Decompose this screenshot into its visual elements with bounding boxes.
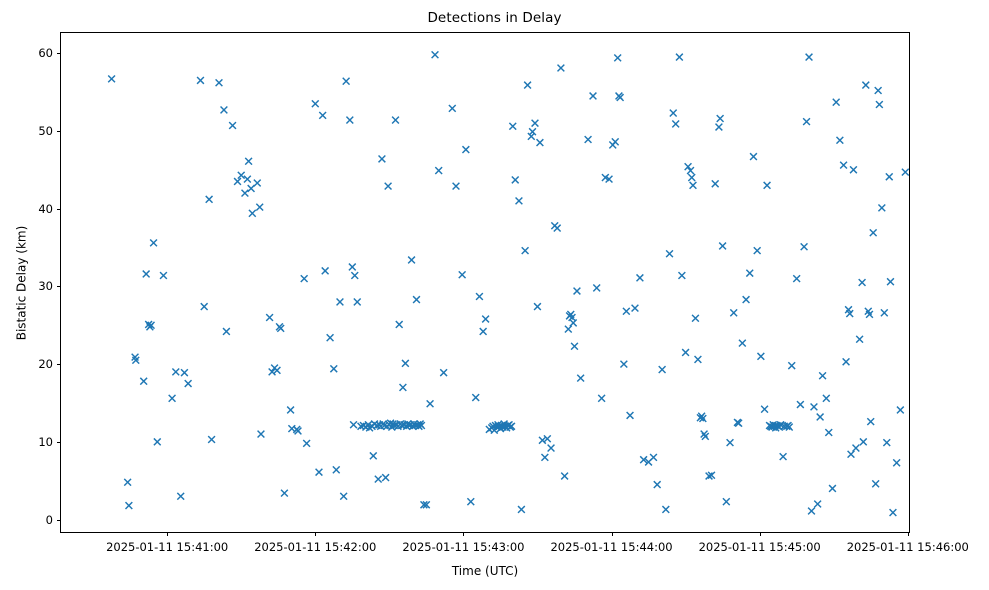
data-point xyxy=(662,506,669,513)
data-point xyxy=(534,303,541,310)
data-point xyxy=(343,78,350,85)
data-point xyxy=(867,418,874,425)
x-tick-label: 2025-01-11 15:46:00 xyxy=(847,540,969,554)
data-point xyxy=(859,279,866,286)
data-point xyxy=(565,326,572,333)
data-point xyxy=(585,136,592,143)
data-point xyxy=(223,328,230,335)
data-point xyxy=(181,369,188,376)
data-point xyxy=(883,439,890,446)
x-tick-mark xyxy=(612,532,613,536)
scatter-points-svg xyxy=(61,33,909,532)
data-point xyxy=(432,51,439,58)
plot-area: 01020304050602025-01-11 15:41:002025-01-… xyxy=(60,32,910,533)
data-point xyxy=(396,321,403,328)
data-point xyxy=(860,438,867,445)
data-point xyxy=(793,275,800,282)
data-point xyxy=(281,490,288,497)
data-point xyxy=(248,185,255,192)
data-point xyxy=(201,303,208,310)
matplotlib-figure: Detections in Delay Bistatic Delay (km) … xyxy=(0,0,989,590)
data-point xyxy=(427,400,434,407)
data-point xyxy=(312,100,319,107)
data-point xyxy=(238,172,245,179)
data-point xyxy=(459,271,466,278)
data-point xyxy=(392,117,399,124)
data-point xyxy=(385,183,392,190)
data-point xyxy=(840,162,847,169)
data-point xyxy=(185,380,192,387)
data-point xyxy=(620,361,627,368)
data-point xyxy=(754,247,761,254)
data-point xyxy=(249,210,256,217)
data-point xyxy=(288,425,295,432)
data-point xyxy=(843,358,850,365)
data-point xyxy=(682,349,689,356)
data-point xyxy=(375,476,382,483)
data-point xyxy=(322,267,329,274)
data-point xyxy=(379,156,386,163)
data-point xyxy=(108,75,115,82)
data-point xyxy=(678,272,685,279)
data-point xyxy=(574,288,581,295)
data-point xyxy=(197,77,204,84)
data-point xyxy=(716,124,723,131)
data-point xyxy=(509,123,516,130)
data-point xyxy=(206,196,213,203)
data-point xyxy=(719,243,726,250)
data-point xyxy=(750,153,757,160)
y-tick-label: 20 xyxy=(38,357,53,371)
data-point xyxy=(532,120,539,127)
data-point xyxy=(548,445,555,452)
data-point xyxy=(695,356,702,363)
data-point xyxy=(370,452,377,459)
data-point xyxy=(654,481,661,488)
data-point xyxy=(887,278,894,285)
data-point xyxy=(870,229,877,236)
data-point xyxy=(482,316,489,323)
data-point xyxy=(472,394,479,401)
data-point xyxy=(659,366,666,373)
data-point xyxy=(612,138,619,145)
x-tick-mark xyxy=(167,532,168,536)
data-point xyxy=(761,406,768,413)
data-point xyxy=(522,247,529,254)
data-point xyxy=(593,285,600,292)
data-point xyxy=(351,272,358,279)
data-point xyxy=(650,454,657,461)
data-point xyxy=(528,133,535,140)
data-point xyxy=(823,395,830,402)
data-point xyxy=(172,368,179,375)
data-point xyxy=(287,407,294,414)
data-point xyxy=(524,82,531,89)
data-point xyxy=(571,343,578,350)
data-point xyxy=(440,369,447,376)
data-point xyxy=(254,180,261,187)
x-tick-label: 2025-01-11 15:41:00 xyxy=(106,540,228,554)
data-point xyxy=(234,178,241,185)
data-point xyxy=(303,440,310,447)
data-point xyxy=(814,501,821,508)
y-tick-label: 0 xyxy=(46,513,53,527)
data-point xyxy=(598,395,605,402)
data-point xyxy=(764,182,771,189)
data-point xyxy=(340,493,347,500)
data-point xyxy=(848,451,855,458)
data-point xyxy=(400,384,407,391)
data-point xyxy=(216,79,223,86)
data-point xyxy=(902,169,909,176)
data-point xyxy=(788,362,795,369)
data-point xyxy=(803,118,810,125)
x-tick-label: 2025-01-11 15:43:00 xyxy=(402,540,524,554)
data-point xyxy=(169,395,176,402)
page-title: Detections in Delay xyxy=(0,10,989,26)
data-point xyxy=(856,336,863,343)
data-point xyxy=(692,315,699,322)
data-point xyxy=(862,82,869,89)
y-tick-label: 60 xyxy=(38,46,53,60)
data-point xyxy=(518,506,525,513)
data-point xyxy=(817,414,824,421)
data-point xyxy=(872,480,879,487)
data-point xyxy=(350,421,357,428)
data-point xyxy=(480,328,487,335)
data-point xyxy=(875,87,882,94)
data-point xyxy=(266,314,273,321)
data-point xyxy=(690,182,697,189)
data-point xyxy=(666,250,673,257)
y-tick-label: 40 xyxy=(38,202,53,216)
x-tick-mark xyxy=(760,532,761,536)
data-point xyxy=(623,308,630,315)
data-point xyxy=(780,453,787,460)
data-point xyxy=(354,299,361,306)
data-point xyxy=(316,469,323,476)
data-point xyxy=(850,166,857,173)
data-point xyxy=(258,431,265,438)
data-point xyxy=(881,309,888,316)
data-point xyxy=(811,403,818,410)
data-point xyxy=(541,454,548,461)
data-point xyxy=(890,509,897,516)
data-point xyxy=(453,183,460,190)
data-point xyxy=(743,296,750,303)
y-axis-label-text: Bistatic Delay (km) xyxy=(14,225,28,340)
data-point xyxy=(333,466,340,473)
data-point xyxy=(577,375,584,382)
x-tick-mark xyxy=(315,532,316,536)
data-point xyxy=(467,498,474,505)
data-point xyxy=(245,158,252,165)
data-point xyxy=(702,433,709,440)
data-point xyxy=(717,115,724,122)
data-point xyxy=(319,112,326,119)
data-point xyxy=(349,264,356,271)
data-point xyxy=(330,365,337,372)
data-point xyxy=(614,54,621,61)
data-point xyxy=(449,105,456,112)
data-point xyxy=(529,128,536,135)
data-point xyxy=(712,180,719,187)
data-point xyxy=(829,485,836,492)
data-point xyxy=(723,498,730,505)
y-tick-label: 10 xyxy=(38,435,53,449)
y-tick-label: 50 xyxy=(38,124,53,138)
data-point xyxy=(208,436,215,443)
data-point xyxy=(256,204,263,211)
data-point xyxy=(819,372,826,379)
data-point xyxy=(670,110,677,117)
data-point xyxy=(413,296,420,303)
x-tick-label: 2025-01-11 15:45:00 xyxy=(699,540,821,554)
data-point xyxy=(435,167,442,174)
data-point xyxy=(676,54,683,61)
data-point xyxy=(244,176,251,183)
data-point xyxy=(688,174,695,181)
data-point xyxy=(897,407,904,414)
data-point xyxy=(886,173,893,180)
x-tick-label: 2025-01-11 15:42:00 xyxy=(254,540,376,554)
data-point xyxy=(537,139,544,146)
scatter-series xyxy=(61,33,909,532)
data-point xyxy=(808,508,815,515)
data-point xyxy=(327,334,334,341)
data-point xyxy=(229,122,236,129)
data-point xyxy=(730,309,737,316)
data-point xyxy=(177,493,184,500)
data-point xyxy=(672,121,679,128)
x-tick-mark xyxy=(908,532,909,536)
data-point xyxy=(757,353,764,360)
data-point xyxy=(124,479,131,486)
data-point xyxy=(346,117,353,124)
data-point xyxy=(825,429,832,436)
data-point xyxy=(570,320,577,327)
data-point xyxy=(301,275,308,282)
data-point xyxy=(382,474,389,481)
data-point xyxy=(408,257,415,264)
data-point xyxy=(554,225,561,232)
x-tick-mark xyxy=(463,532,464,536)
data-point xyxy=(833,99,840,106)
data-point xyxy=(627,412,634,419)
data-point xyxy=(476,293,483,300)
data-point xyxy=(561,473,568,480)
data-point xyxy=(701,431,708,438)
data-point xyxy=(402,360,409,367)
data-point xyxy=(590,93,597,100)
data-point xyxy=(637,274,644,281)
data-point xyxy=(125,502,132,509)
data-point xyxy=(632,305,639,312)
y-axis-label: Bistatic Delay (km) xyxy=(12,32,30,533)
data-point xyxy=(516,197,523,204)
data-point xyxy=(836,137,843,144)
data-point xyxy=(806,54,813,61)
data-point xyxy=(878,204,885,211)
data-point xyxy=(150,239,157,246)
data-point xyxy=(893,459,900,466)
x-axis-label: Time (UTC) xyxy=(60,564,910,578)
data-point xyxy=(876,101,883,108)
data-point xyxy=(160,272,167,279)
data-point xyxy=(337,299,344,306)
data-point xyxy=(558,65,565,72)
data-point xyxy=(746,270,753,277)
data-point xyxy=(853,445,860,452)
data-point xyxy=(221,107,228,114)
data-point xyxy=(797,401,804,408)
data-point xyxy=(727,439,734,446)
data-point xyxy=(512,177,519,184)
data-point xyxy=(140,378,147,385)
data-point xyxy=(462,146,469,153)
data-point xyxy=(154,438,161,445)
data-point xyxy=(242,190,249,197)
data-point xyxy=(739,340,746,347)
data-point xyxy=(143,271,150,278)
y-tick-label: 30 xyxy=(38,279,53,293)
data-point xyxy=(801,243,808,250)
x-tick-label: 2025-01-11 15:44:00 xyxy=(550,540,672,554)
